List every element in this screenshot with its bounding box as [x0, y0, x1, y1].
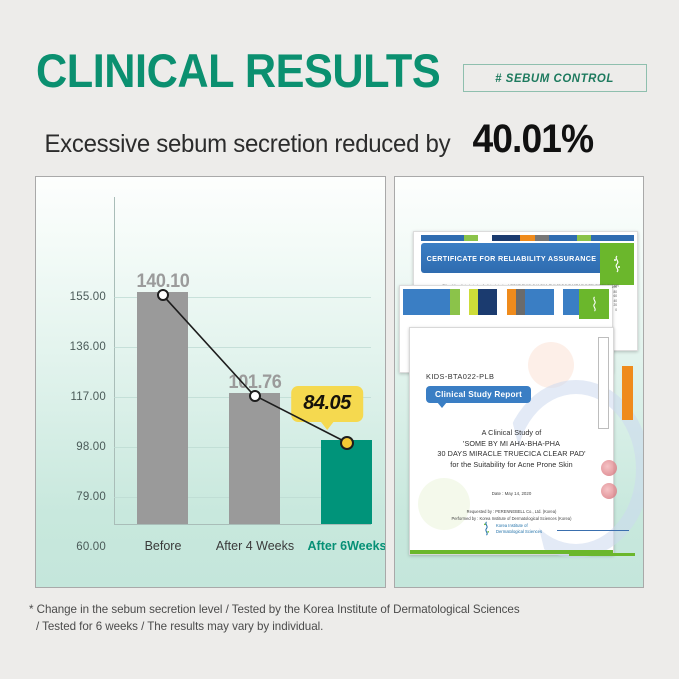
- y-tick-3: 98.00: [76, 441, 106, 453]
- report-meta: Requested by : PERENNEBELL Co., Ltd. (Ko…: [410, 508, 613, 522]
- report-code: KIDS-BTA022-PLB: [426, 372, 494, 381]
- kids-logo-icon: [481, 521, 492, 536]
- footnote-line-1: * Change in the sebum secretion level / …: [29, 601, 629, 618]
- data-point-after-6-weeks: [340, 436, 354, 450]
- report-requested-by: Requested by : PERENNEBELL Co., Ltd. (Ko…: [410, 508, 613, 515]
- y-tick-0: 155.00: [70, 291, 106, 303]
- analysis-scale-bar: [598, 337, 609, 429]
- certificate-stripes: [421, 235, 634, 241]
- report-title-line4: for the Suitability for Acne Prone Skin: [418, 460, 605, 471]
- y-tick-1: 136.00: [70, 341, 106, 353]
- document-stack: CERTIFICATE FOR RELIABILITY ASSURANCE - …: [395, 177, 643, 587]
- certificate-title-band: CERTIFICATE FOR RELIABILITY ASSURANCE: [421, 243, 601, 273]
- footnote: * Change in the sebum secretion level / …: [29, 601, 629, 635]
- kids-logo-icon: [611, 255, 623, 273]
- y-tick-5: 60.00: [76, 541, 106, 553]
- clinical-study-report-document: KIDS-BTA022-PLB Clinical Study Report A …: [409, 327, 614, 555]
- y-tick-4: 79.00: [76, 491, 106, 503]
- sebum-bar-chart: 155.00 136.00 117.00 98.00 79.00 60.00: [36, 177, 385, 587]
- y-tick-2: 117.00: [70, 391, 106, 403]
- analysis-scale-labels: 100806040200: [612, 285, 617, 313]
- sebum-control-badge: # SEBUM CONTROL: [463, 64, 647, 92]
- secondary-stripes: [403, 289, 582, 315]
- blue-divider: [557, 530, 629, 531]
- report-logo: Korea Institute of Dermatological Scienc…: [410, 521, 613, 536]
- report-logo-line2: Dermatological Sciences: [496, 529, 542, 535]
- report-chip: Clinical Study Report: [426, 386, 531, 403]
- y-axis-labels: 155.00 136.00 117.00 98.00 79.00 60.00: [46, 177, 106, 587]
- chart-panel: 155.00 136.00 117.00 98.00 79.00 60.00: [35, 176, 386, 588]
- certificate-logo-block: [600, 243, 634, 285]
- documents-panel: CERTIFICATE FOR RELIABILITY ASSURANCE - …: [394, 176, 644, 588]
- report-title-line3: 30 DAYS MIRACLE TRUECICA CLEAR PAD': [418, 449, 605, 460]
- subtitle-percentage: 40.01%: [472, 117, 593, 162]
- x-label-after-6-weeks: After 6Weeks: [308, 539, 386, 553]
- x-label-before: Before: [145, 539, 182, 553]
- report-title-line1: A Clinical Study of: [418, 428, 605, 439]
- report-title: A Clinical Study of 'SOME BY MI AHA-BHA-…: [418, 428, 605, 470]
- orange-tab-marker: [622, 366, 633, 420]
- report-logo-text: Korea Institute of Dermatological Scienc…: [496, 523, 542, 534]
- data-point-after-4-weeks: [249, 390, 261, 402]
- secondary-logo-block: [579, 289, 609, 319]
- badge-label: # SEBUM CONTROL: [496, 71, 615, 85]
- cell-image-2: [601, 483, 617, 499]
- trend-line: [114, 197, 371, 525]
- subtitle-text: Excessive sebum secretion reduced by: [44, 130, 450, 159]
- green-divider: [569, 553, 635, 556]
- report-title-line2: 'SOME BY MI AHA-BHA-PHA: [418, 439, 605, 450]
- report-date: Date : May 14, 2020: [410, 491, 613, 496]
- subtitle: Excessive sebum secretion reduced by 40.…: [36, 117, 597, 162]
- cell-image-1: [601, 460, 617, 476]
- data-point-before: [157, 289, 169, 301]
- page-title: CLINICAL RESULTS: [36, 46, 440, 96]
- plot-area: 140.10 101.76 84.05: [114, 197, 371, 525]
- kids-logo-icon: [589, 296, 600, 312]
- footnote-line-2: / Tested for 6 weeks / The results may v…: [29, 618, 629, 635]
- x-label-after-4-weeks: After 4 Weeks: [216, 539, 294, 553]
- clinical-results-page: CLINICAL RESULTS # SEBUM CONTROL Excessi…: [0, 0, 679, 679]
- x-axis-labels: Before After 4 Weeks After 6Weeks: [114, 539, 371, 559]
- certificate-title: CERTIFICATE FOR RELIABILITY ASSURANCE: [426, 254, 596, 263]
